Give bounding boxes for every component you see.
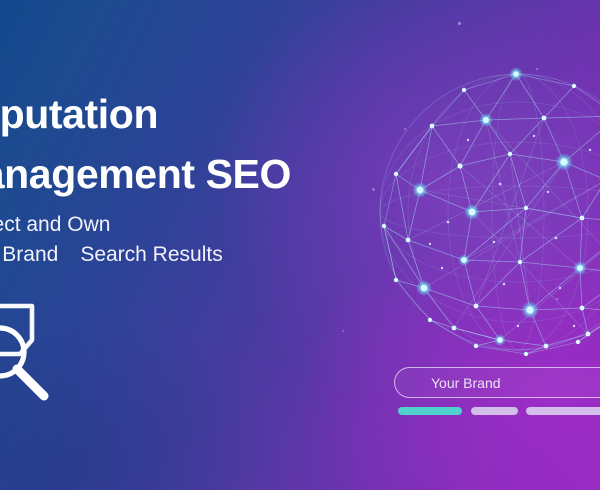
subtitle-line-1: Protect and Own: [0, 213, 110, 236]
network-globe-icon: [368, 62, 600, 362]
search-result-bars: [398, 407, 600, 417]
subtitle: Protect and Own Your BrandSearch Results: [0, 210, 374, 270]
result-bar-2: [471, 407, 518, 415]
search-input[interactable]: Your Brand: [394, 367, 600, 398]
subtitle-brand-text: Your Brand: [0, 243, 58, 266]
subtitle-results-text: Search Results: [80, 243, 222, 266]
shield-magnifier-icon: [0, 296, 66, 402]
sparkle-1: [458, 22, 461, 25]
subtitle-line-2: Your BrandSearch Results: [0, 240, 374, 270]
search-input-value: Your Brand: [431, 375, 501, 391]
hero-banner: Reputation Management SEO Protect and Ow…: [0, 0, 600, 490]
headline-line-2: Management SEO: [0, 144, 368, 204]
result-bar-3: [526, 407, 600, 415]
result-bar-1: [398, 407, 462, 415]
headline-line-1: Reputation: [0, 91, 158, 137]
sparkle-6: [342, 330, 344, 332]
page-title: Reputation Management SEO: [0, 84, 368, 204]
